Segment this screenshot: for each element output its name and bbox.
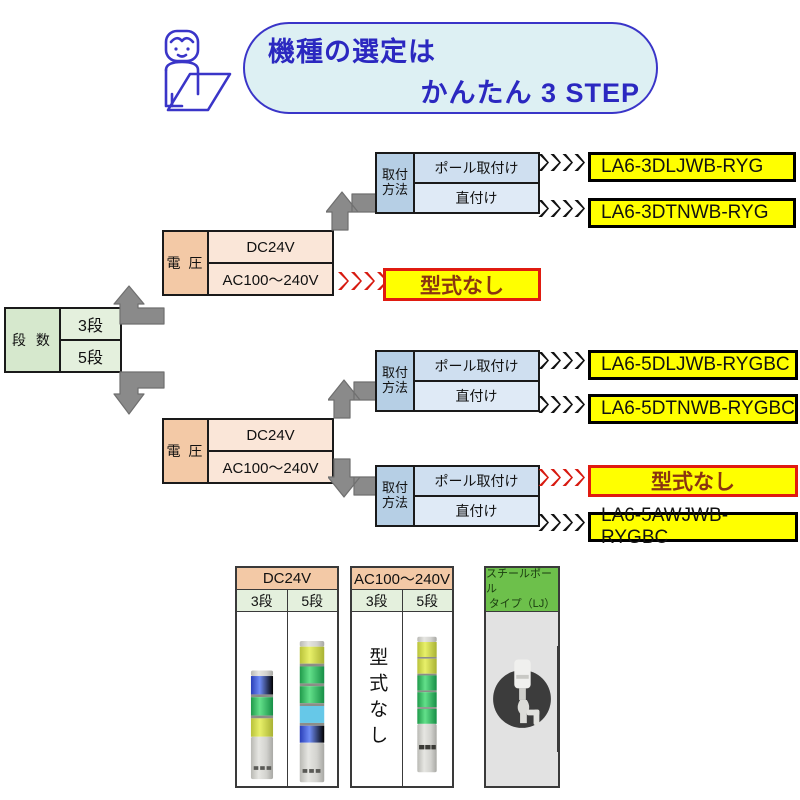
result-model-3[interactable]: LA6-5DLJWB-RYGBC: [588, 350, 798, 380]
header-title-line2: かんたん 3 STEP: [268, 75, 640, 111]
arrow-black-to-result-2: [538, 199, 585, 218]
step3-label-1-line1: 取付: [382, 168, 408, 183]
step3-option-pole-2[interactable]: ポール取付け: [415, 352, 538, 382]
step3-label-2: 取付 方法: [377, 352, 415, 410]
gallery-steel-pole-header-line2: タイプ（LJ）: [489, 597, 556, 612]
header-title-line1: 機種の選定は: [268, 34, 648, 70]
step2-label-bottom: 電 圧: [164, 420, 209, 482]
gallery-group-dc24v: DC24V 3段 5段: [235, 566, 339, 788]
result-model-5[interactable]: LA6-5AWJWB-RYGBC: [588, 512, 798, 542]
step2-label-top: 電 圧: [164, 232, 209, 294]
step2-option-ac100-240v-bottom[interactable]: AC100〜240V: [209, 452, 332, 482]
gallery-ac-header: AC100〜240V: [352, 568, 452, 590]
step3-option-direct-3[interactable]: 直付け: [415, 497, 538, 525]
gallery-dc24v-col-3dan: 3段: [237, 590, 288, 611]
result-model-1[interactable]: LA6-3DLJWB-RYG: [588, 152, 796, 182]
gallery-dc24v-header: DC24V: [237, 568, 337, 590]
arrow-voltage-top-to-mount1: [326, 172, 382, 234]
step1-option-5dan[interactable]: 5段: [61, 341, 120, 371]
arrow-red-to-none-ac5pole: [538, 468, 585, 487]
tower-light-3-tier-dc-icon: [239, 636, 285, 786]
step2-voltage-box-bottom[interactable]: 電 圧 DC24V AC100〜240V: [162, 418, 334, 484]
gallery-steel-pole-cell: [486, 646, 558, 752]
step3-label-1-line2: 方法: [382, 183, 408, 198]
step3-label-2-line2: 方法: [382, 381, 408, 396]
gallery-dc24v-cell-5dan: [288, 612, 338, 786]
gallery-ac-3dan-none-text: 型式なし: [363, 647, 390, 751]
step3-label-3-line1: 取付: [382, 481, 408, 496]
steel-pole-mount-photo-icon: [488, 646, 556, 752]
step3-option-pole-3[interactable]: ポール取付け: [415, 467, 538, 497]
step1-tier-count-box[interactable]: 段 数 3段 5段: [4, 307, 122, 373]
step2-option-dc24v-top[interactable]: DC24V: [209, 232, 332, 264]
gallery-dc24v-col-5dan: 5段: [288, 590, 338, 611]
tower-light-5-tier-ac-icon: [405, 623, 449, 786]
arrow-black-to-result-4: [538, 395, 585, 414]
step3-option-pole-1[interactable]: ポール取付け: [415, 154, 538, 184]
person-with-laptop-icon: [150, 25, 245, 120]
step3-label-3: 取付 方法: [377, 467, 415, 525]
gallery-ac-col-3dan: 3段: [352, 590, 403, 611]
gallery-dc24v-cell-3dan: [237, 612, 288, 786]
step3-option-direct-1[interactable]: 直付け: [415, 184, 538, 212]
step3-mount-box-3[interactable]: 取付 方法 ポール取付け 直付け: [375, 465, 540, 527]
diagram-canvas: 機種の選定は かんたん 3 STEP 段 数 3段 5段 電 圧 DC24V A…: [0, 0, 800, 800]
gallery-steel-pole-header: スチールポール タイプ（LJ）: [486, 568, 558, 612]
result-model-4[interactable]: LA6-5DTNWB-RYGBC: [588, 394, 798, 424]
gallery-steel-pole-header-line1: スチールポール: [486, 567, 558, 597]
arrow-black-to-result-3: [538, 351, 585, 370]
step2-voltage-box-top[interactable]: 電 圧 DC24V AC100〜240V: [162, 230, 334, 296]
gallery-group-ac100-240v: AC100〜240V 3段 5段 型式なし: [350, 566, 454, 788]
step2-option-ac100-240v-top[interactable]: AC100〜240V: [209, 264, 332, 294]
arrow-red-to-none-ac3: [337, 271, 388, 291]
result-model-2[interactable]: LA6-3DTNWB-RYG: [588, 198, 796, 228]
arrow-black-to-result-1: [538, 153, 585, 172]
gallery-group-steel-pole: スチールポール タイプ（LJ）: [484, 566, 560, 788]
arrow-black-to-result-5: [538, 513, 585, 532]
step3-label-3-line2: 方法: [382, 496, 408, 511]
step2-option-dc24v-bottom[interactable]: DC24V: [209, 420, 332, 452]
step3-mount-box-1[interactable]: 取付 方法 ポール取付け 直付け: [375, 152, 540, 214]
gallery-ac-cell-3dan: 型式なし: [352, 612, 403, 786]
tower-light-5-tier-dc-icon: [288, 626, 336, 786]
step3-option-direct-2[interactable]: 直付け: [415, 382, 538, 410]
step3-label-1: 取付 方法: [377, 154, 415, 212]
gallery-ac-cell-5dan: [403, 612, 453, 786]
step1-label: 段 数: [6, 309, 61, 371]
result-none-ac-5tier-pole[interactable]: 型式なし: [588, 465, 798, 497]
result-none-ac-3tier[interactable]: 型式なし: [383, 268, 541, 301]
step3-mount-box-2[interactable]: 取付 方法 ポール取付け 直付け: [375, 350, 540, 412]
step3-label-2-line1: 取付: [382, 366, 408, 381]
gallery-ac-col-5dan: 5段: [403, 590, 453, 611]
